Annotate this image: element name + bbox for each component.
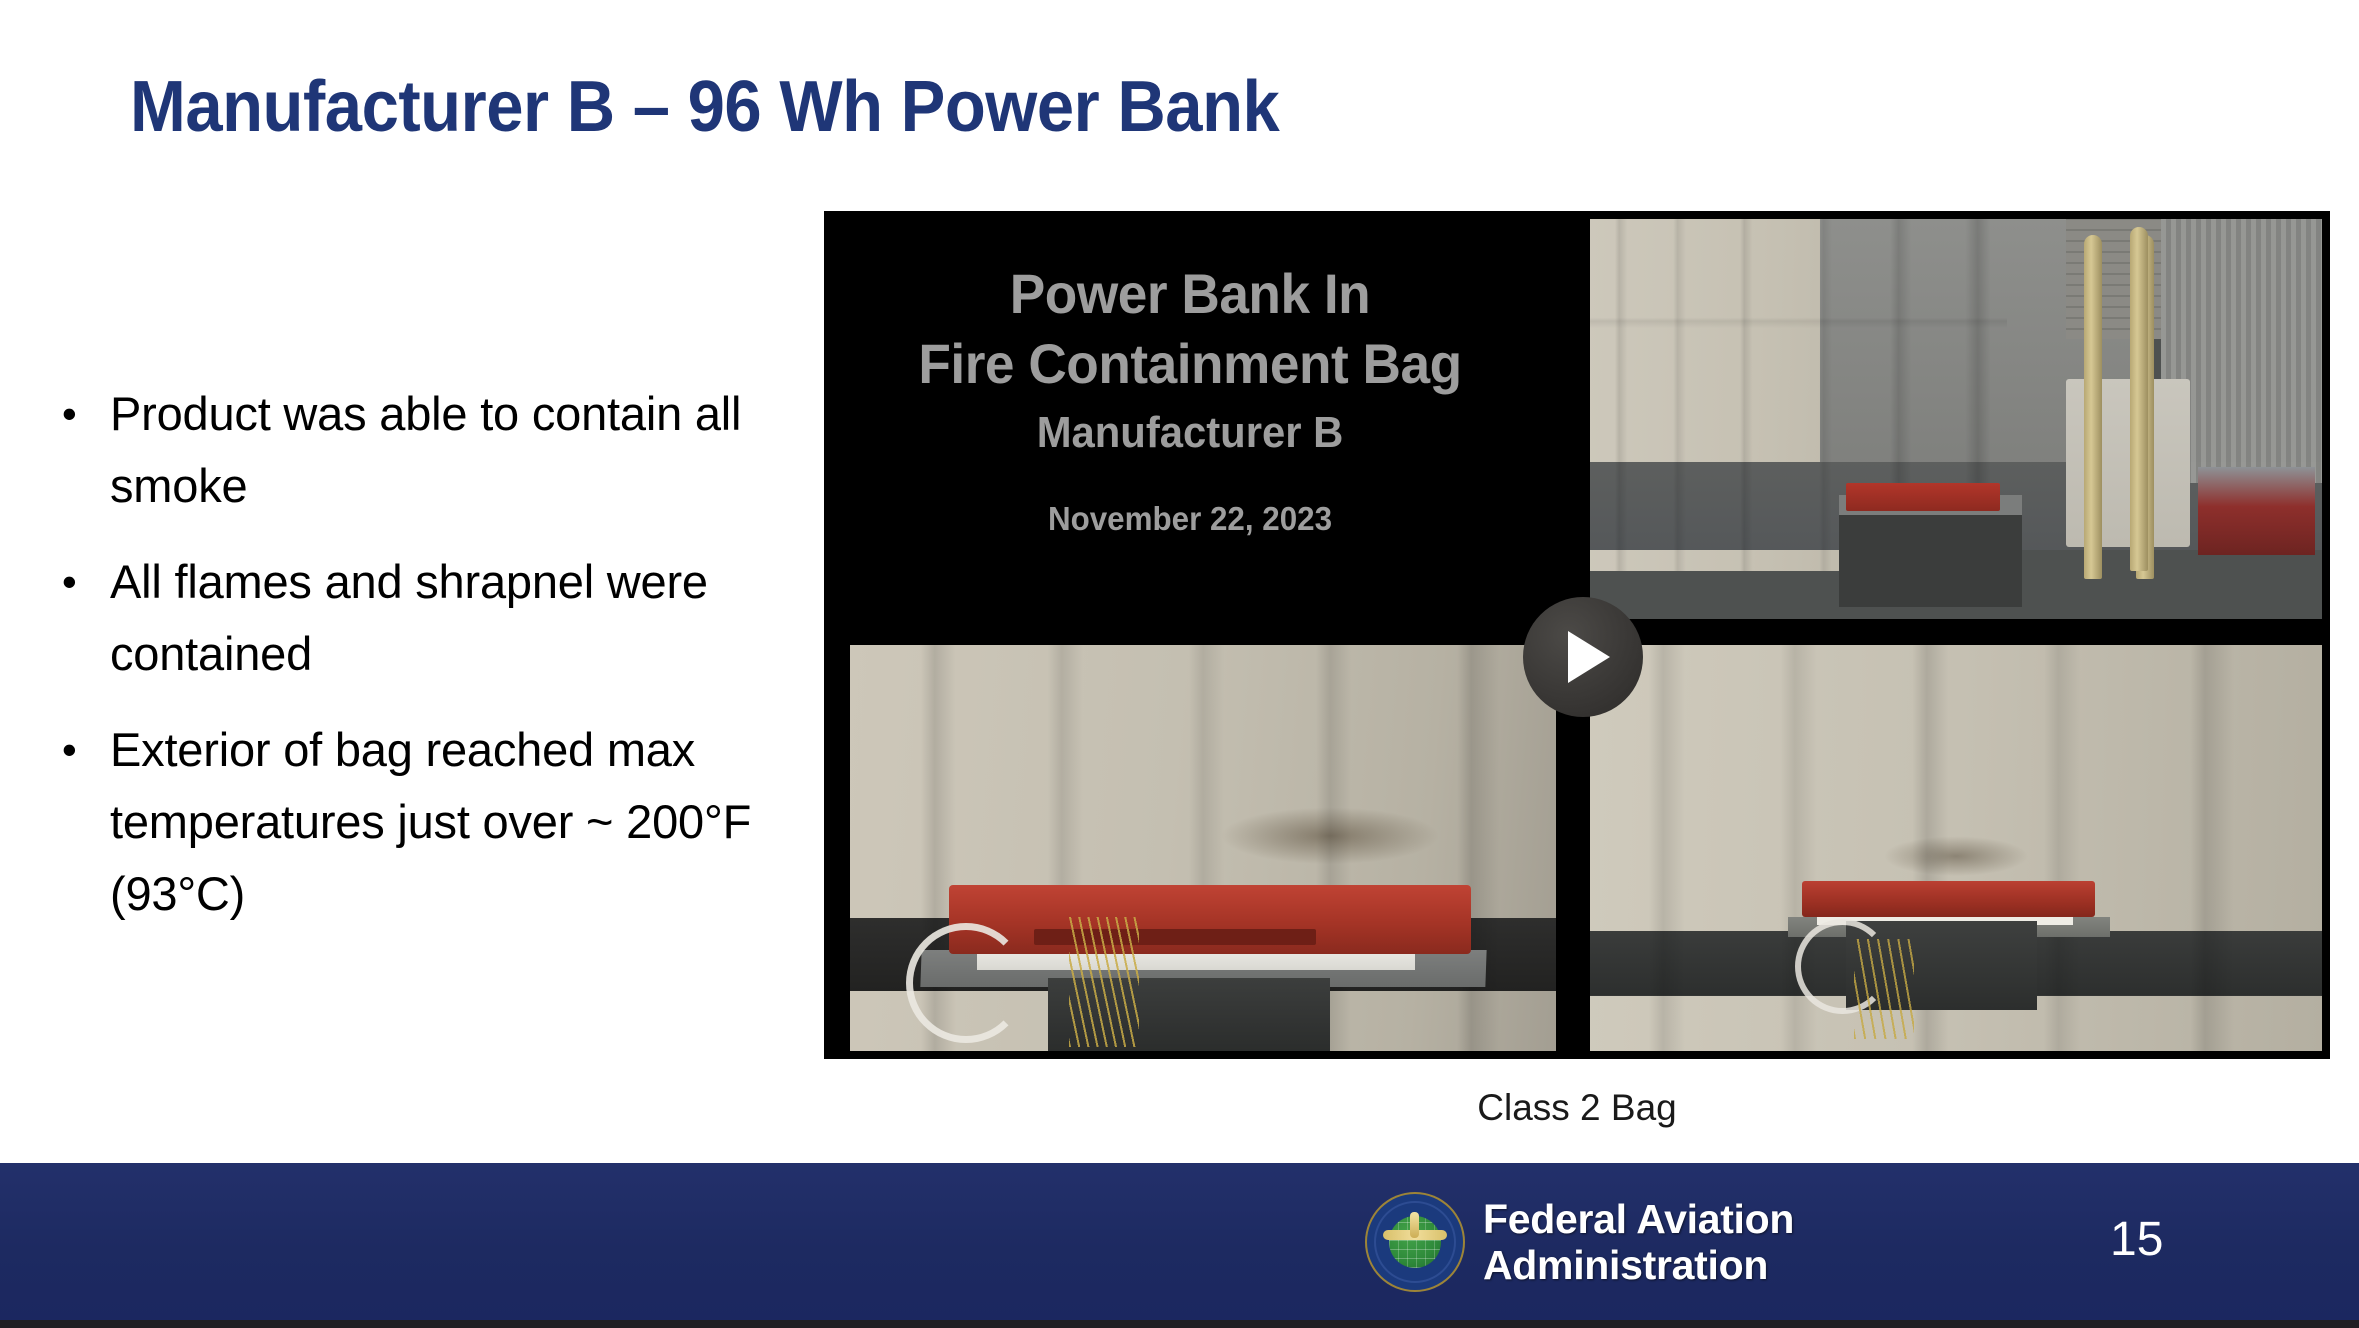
footer-bar bbox=[0, 1163, 2359, 1320]
bullet-list: • Product was able to contain all smoke … bbox=[48, 378, 788, 954]
gas-cylinder bbox=[2084, 235, 2102, 579]
lab-wide-image bbox=[1590, 219, 2322, 619]
play-triangle-icon bbox=[1568, 631, 1610, 683]
bag-closeup-image bbox=[850, 645, 1556, 1051]
photo-lab-wide-shot bbox=[1590, 219, 2322, 619]
coiled-hose bbox=[906, 923, 1026, 1043]
thermocouple-wires bbox=[1854, 939, 1914, 1039]
faa-seal-icon bbox=[1365, 1192, 1465, 1292]
faa-agency-line-2: Administration bbox=[1483, 1242, 1794, 1288]
slide: Manufacturer B – 96 Wh Power Bank • Prod… bbox=[0, 0, 2359, 1328]
video-title-card-text: Power Bank In Fire Containment Bag Manuf… bbox=[824, 259, 1556, 541]
video-title-date: November 22, 2023 bbox=[842, 497, 1537, 541]
gas-cylinder bbox=[2130, 227, 2148, 571]
list-item: • Exterior of bag reached max temperatur… bbox=[48, 714, 788, 930]
faa-agency-name: Federal Aviation Administration bbox=[1483, 1196, 1794, 1288]
video-title-line-1: Power Bank In bbox=[842, 259, 1537, 329]
media-caption: Class 2 Bag bbox=[824, 1087, 2330, 1129]
list-item: • All flames and shrapnel were contained bbox=[48, 546, 788, 690]
thermocouple-wires bbox=[1069, 917, 1139, 1047]
bullet-text: All flames and shrapnel were contained bbox=[110, 546, 788, 690]
page-number: 15 bbox=[2110, 1212, 2163, 1267]
video-title-line-2: Fire Containment Bag bbox=[842, 329, 1537, 399]
photo-bag-closeup bbox=[850, 645, 1556, 1051]
video-title-manufacturer: Manufacturer B bbox=[842, 401, 1537, 465]
bullet-marker-icon: • bbox=[48, 714, 110, 786]
tool-chest bbox=[2198, 467, 2315, 555]
bullet-marker-icon: • bbox=[48, 378, 110, 450]
bullet-text: Exterior of bag reached max temperatures… bbox=[110, 714, 788, 930]
video-title-card-panel: Power Bank In Fire Containment Bag Manuf… bbox=[824, 211, 1556, 623]
fire-containment-bag bbox=[1846, 483, 2000, 511]
seal-torch bbox=[1410, 1212, 1419, 1238]
bullet-marker-icon: • bbox=[48, 546, 110, 618]
footer-bottom-strip bbox=[0, 1320, 2359, 1328]
test-table bbox=[1839, 495, 2022, 607]
bag-medium-image bbox=[1590, 645, 2322, 1051]
play-icon[interactable] bbox=[1523, 597, 1643, 717]
bullet-text: Product was able to contain all smoke bbox=[110, 378, 788, 522]
faa-branding: Federal Aviation Administration bbox=[1365, 1192, 1794, 1292]
faa-agency-line-1: Federal Aviation bbox=[1483, 1196, 1794, 1242]
photo-bag-medium-shot bbox=[1590, 645, 2322, 1051]
fire-containment-bag bbox=[1802, 881, 2095, 918]
list-item: • Product was able to contain all smoke bbox=[48, 378, 788, 522]
page-title: Manufacturer B – 96 Wh Power Bank bbox=[130, 66, 1279, 148]
